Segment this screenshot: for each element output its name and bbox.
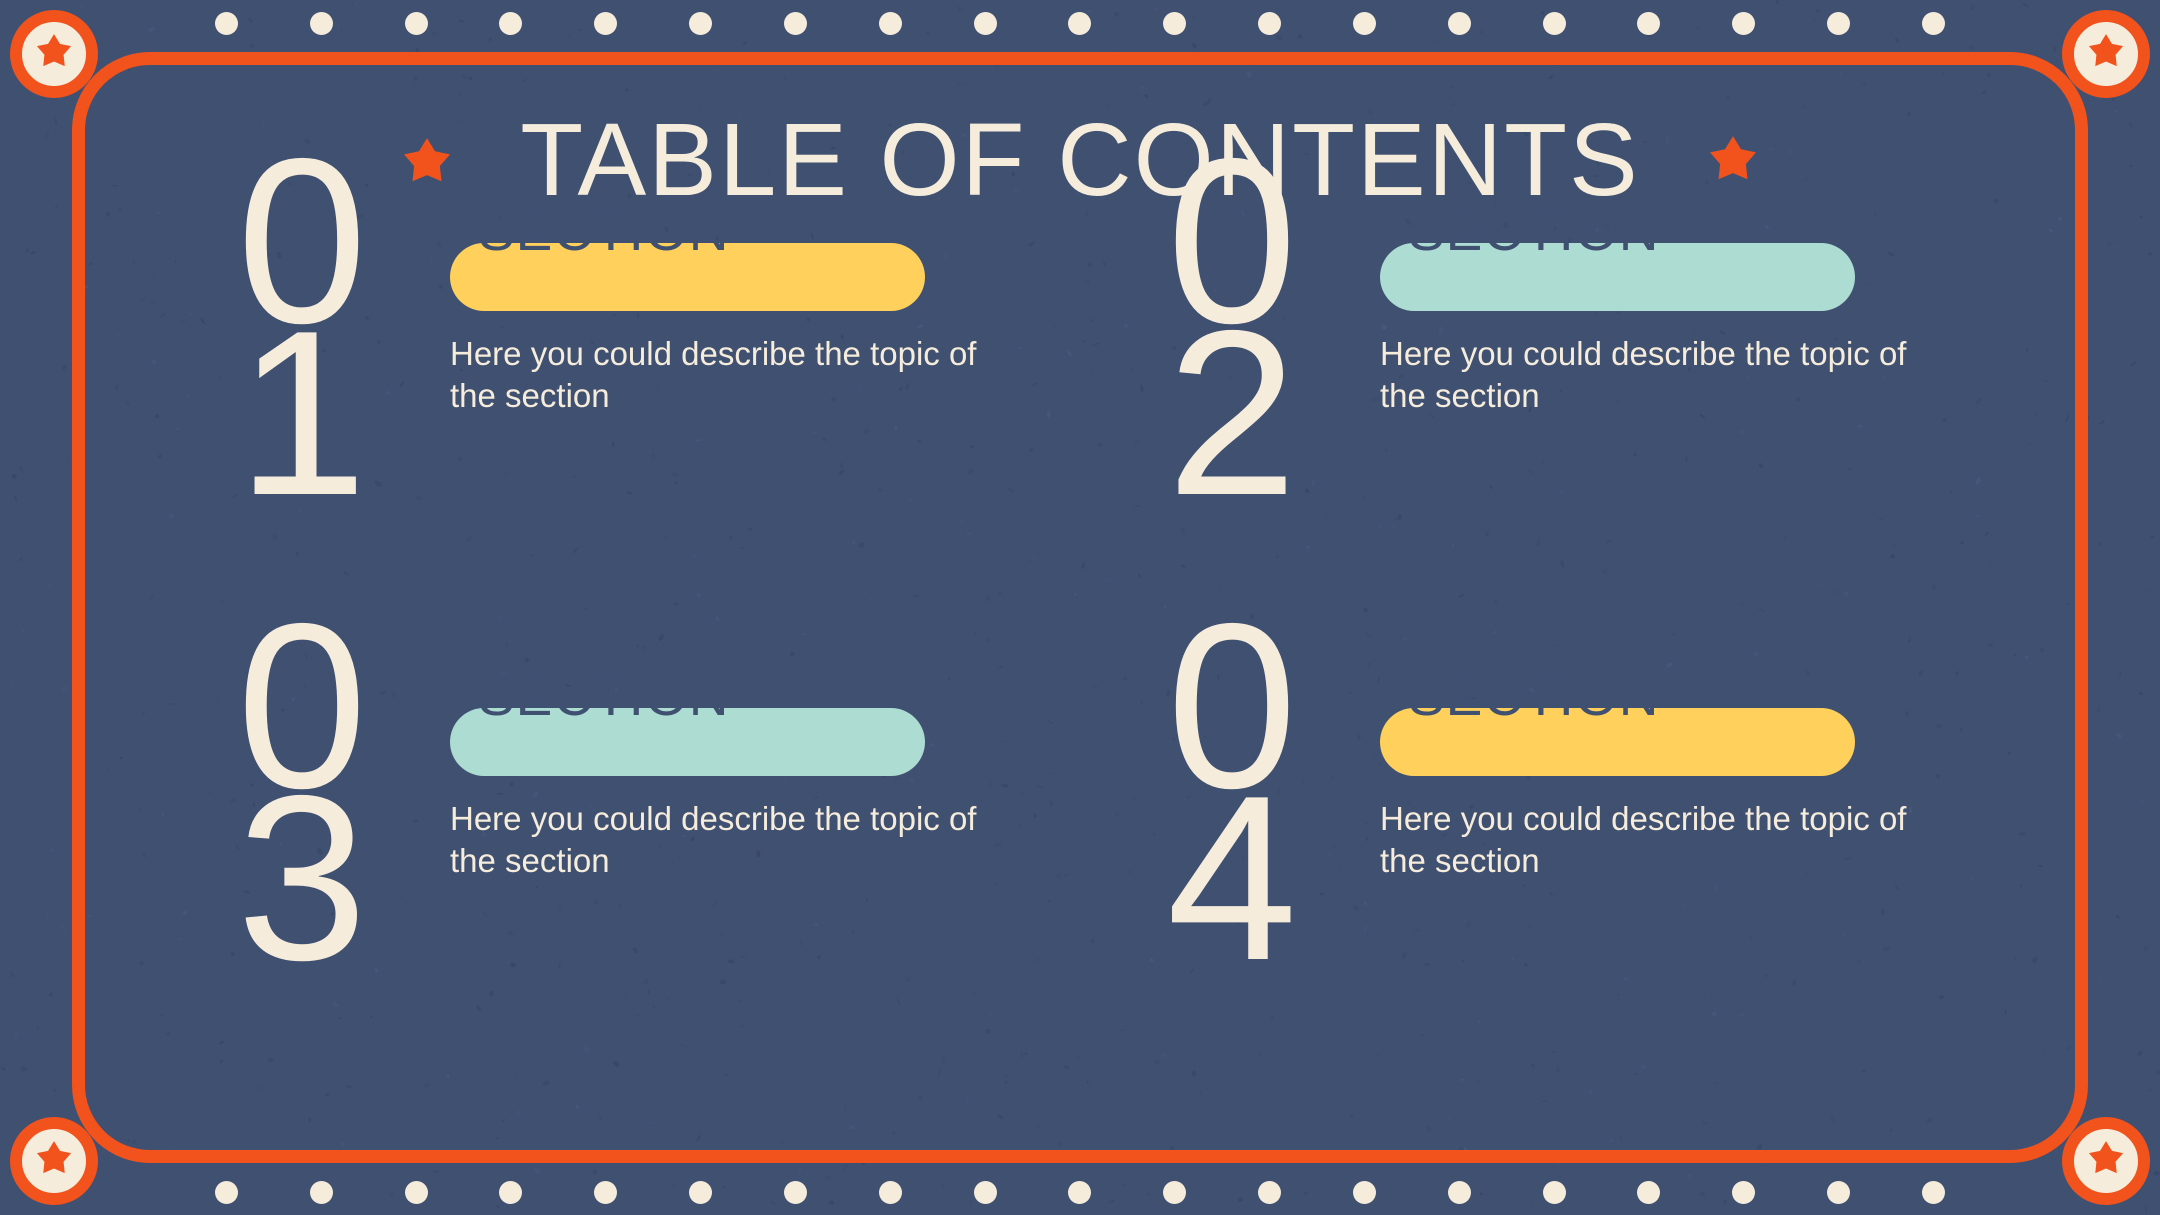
index-digit-bottom: 1 xyxy=(170,327,430,499)
contents-grid: 0 1 SECTION Here you could describe the … xyxy=(150,185,2010,1115)
entry-body-03: SECTION Here you could describe the topi… xyxy=(450,708,1030,882)
star-icon xyxy=(2083,1138,2129,1184)
rail-dot xyxy=(689,1181,712,1204)
toc-entry-04[interactable]: 0 4 SECTION Here you could describe the … xyxy=(1080,650,2010,1115)
rail-dot xyxy=(1448,12,1471,35)
rail-dot xyxy=(1543,1181,1566,1204)
rail-dot xyxy=(499,12,522,35)
entry-index-04: 0 4 xyxy=(1100,620,1360,963)
corner-badge-top-right xyxy=(2062,10,2150,98)
star-icon xyxy=(1702,132,1764,194)
entry-description-03: Here you could describe the topic of the… xyxy=(450,798,980,882)
dot-rail-top xyxy=(215,10,1945,36)
index-digit-bottom: 4 xyxy=(1100,792,1360,964)
rail-dot xyxy=(1732,1181,1755,1204)
rail-dot xyxy=(1827,1181,1850,1204)
entry-description-04: Here you could describe the topic of the… xyxy=(1380,798,1910,882)
rail-dot xyxy=(1448,1181,1471,1204)
corner-badge-bottom-right xyxy=(2062,1117,2150,1205)
rail-dot xyxy=(974,12,997,35)
rail-dot xyxy=(310,12,333,35)
rail-dot xyxy=(879,1181,902,1204)
entry-heading-04: SECTION xyxy=(1408,669,1659,724)
rail-dot xyxy=(1353,1181,1376,1204)
rail-dot xyxy=(689,12,712,35)
entry-pill-04: SECTION xyxy=(1380,708,1855,776)
rail-dot xyxy=(1258,12,1281,35)
corner-badge-top-left xyxy=(10,10,98,98)
rail-dot xyxy=(784,1181,807,1204)
index-digit-bottom: 3 xyxy=(170,792,430,964)
entry-index-03: 0 3 xyxy=(170,620,430,963)
entry-pill-03: SECTION xyxy=(450,708,925,776)
rail-dot xyxy=(405,1181,428,1204)
rail-dot xyxy=(974,1181,997,1204)
rail-dot xyxy=(1637,1181,1660,1204)
star-icon xyxy=(396,134,458,196)
entry-description-01: Here you could describe the topic of the… xyxy=(450,333,980,417)
rail-dot xyxy=(594,1181,617,1204)
rail-dot xyxy=(1068,1181,1091,1204)
rail-dot xyxy=(1732,12,1755,35)
corner-badge-bottom-left xyxy=(10,1117,98,1205)
page-title: TABLE OF CONTENTS xyxy=(520,108,1639,211)
entry-body-01: SECTION Here you could describe the topi… xyxy=(450,243,1030,417)
entry-body-04: SECTION Here you could describe the topi… xyxy=(1380,708,1960,882)
entry-heading-03: SECTION xyxy=(478,669,729,724)
rail-dot xyxy=(1543,12,1566,35)
rail-dot xyxy=(1353,12,1376,35)
entry-description-02: Here you could describe the topic of the… xyxy=(1380,333,1910,417)
rail-dot xyxy=(1922,1181,1945,1204)
entry-pill-02: SECTION xyxy=(1380,243,1855,311)
star-icon xyxy=(2083,31,2129,77)
rail-dot xyxy=(594,12,617,35)
index-digit-bottom: 2 xyxy=(1100,327,1360,499)
rail-dot xyxy=(215,12,238,35)
toc-entry-03[interactable]: 0 3 SECTION Here you could describe the … xyxy=(150,650,1080,1115)
rail-dot xyxy=(310,1181,333,1204)
star-icon xyxy=(31,31,77,77)
rail-dot xyxy=(1258,1181,1281,1204)
entry-body-02: SECTION Here you could describe the topi… xyxy=(1380,243,1960,417)
rail-dot xyxy=(215,1181,238,1204)
rail-dot xyxy=(784,12,807,35)
star-icon xyxy=(31,1138,77,1184)
rail-dot xyxy=(1637,12,1660,35)
rail-dot xyxy=(1163,12,1186,35)
rail-dot xyxy=(879,12,902,35)
title-row: TABLE OF CONTENTS xyxy=(0,108,2160,211)
rail-dot xyxy=(1922,12,1945,35)
rail-dot xyxy=(1827,12,1850,35)
rail-dot xyxy=(1163,1181,1186,1204)
rail-dot xyxy=(1068,12,1091,35)
rail-dot xyxy=(405,12,428,35)
dot-rail-bottom xyxy=(215,1179,1945,1205)
entry-pill-01: SECTION xyxy=(450,243,925,311)
rail-dot xyxy=(499,1181,522,1204)
